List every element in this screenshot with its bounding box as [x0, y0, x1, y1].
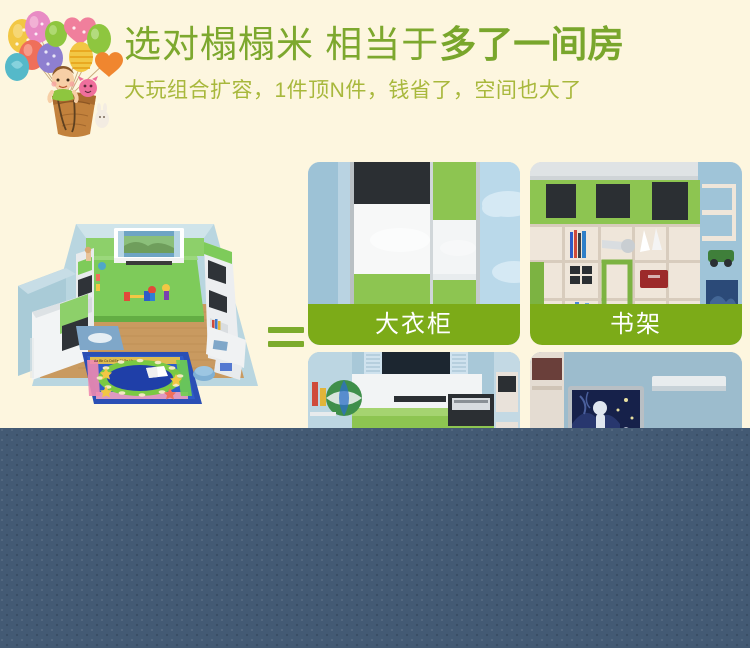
header-text-block: 选对榻榻米 相当于多了一间房 大玩组合扩容，1件顶N件，钱省了，空间也大了 — [124, 22, 744, 105]
comparison-section: Aa Bb Cc Dd Ee Ff Gg Hh — [0, 150, 750, 430]
product-detail-page: 选对榻榻米 相当于多了一间房 大玩组合扩容，1件顶N件，钱省了，空间也大了 — [0, 0, 750, 648]
page-title-emphasis: 多了一间房 — [439, 24, 624, 65]
equals-bar-bottom — [268, 341, 304, 347]
equals-sign — [268, 325, 304, 351]
page-title-main: 选对榻榻米 相当于 — [124, 24, 439, 65]
equals-bar-top — [268, 327, 304, 333]
page-header: 选对榻榻米 相当于多了一间房 大玩组合扩容，1件顶N件，钱省了，空间也大了 — [0, 0, 750, 150]
product-panel-label: 书架 — [530, 304, 742, 345]
product-panel-wardrobe[interactable]: 大衣柜 — [308, 162, 520, 345]
page-title: 选对榻榻米 相当于多了一间房 — [124, 22, 744, 68]
product-panel-grid: 大衣柜 — [308, 162, 750, 430]
product-panel-label: 大衣柜 — [308, 304, 520, 345]
product-panel-bookshelf[interactable]: 书架 — [530, 162, 742, 345]
page-subtitle: 大玩组合扩容，1件顶N件，钱省了，空间也大了 — [124, 77, 744, 105]
hot-air-balloon-illustration — [2, 4, 124, 144]
kids-room-3d-floorplan: Aa Bb Cc Dd Ee Ff Gg Hh — [18, 208, 270, 408]
footer-section — [0, 428, 750, 648]
